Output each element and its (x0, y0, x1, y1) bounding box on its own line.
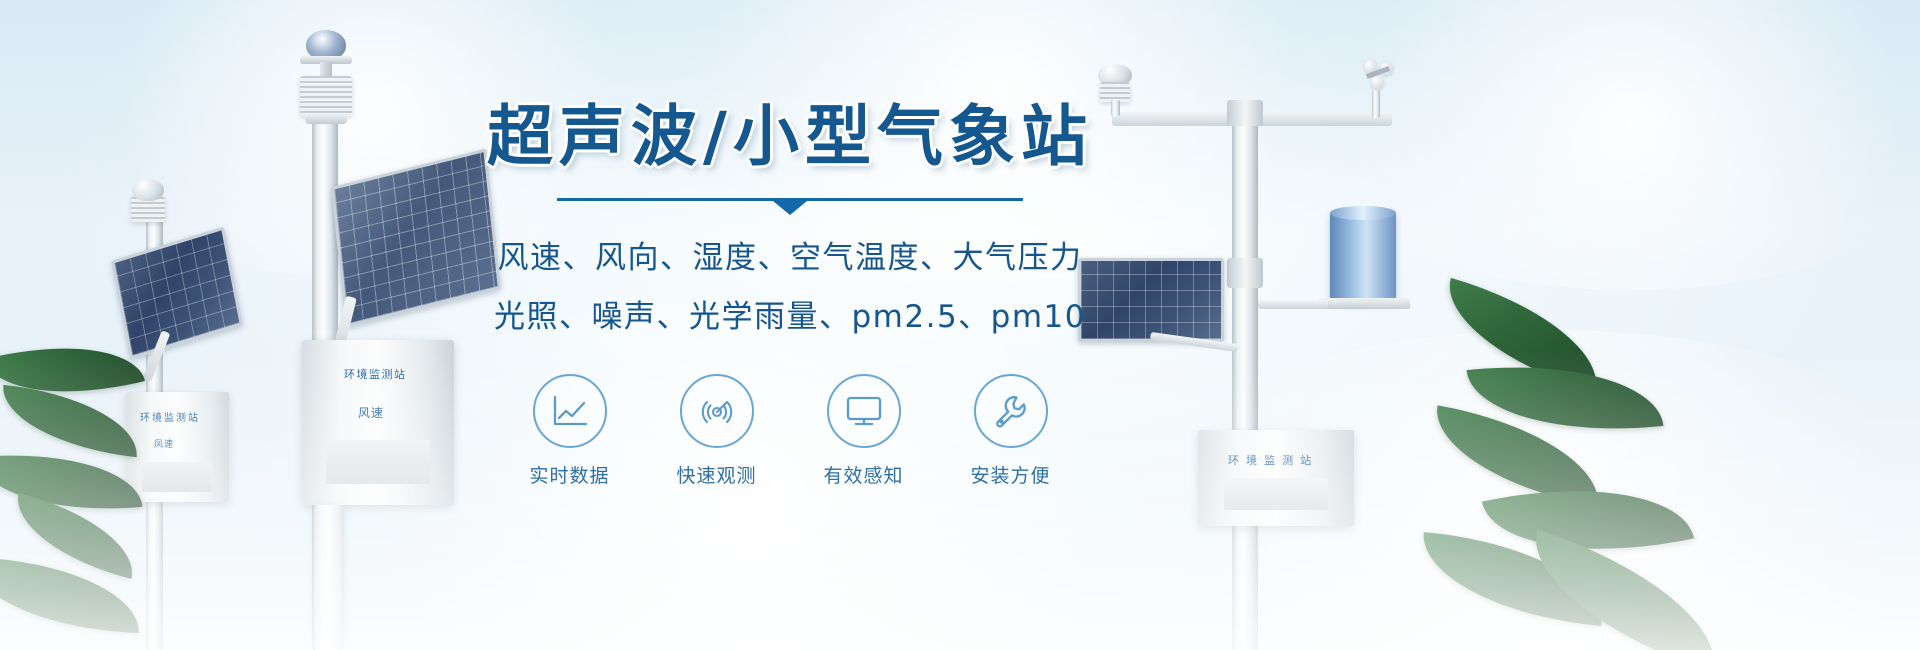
banner-content: 超声波/小型气象站 风速、风向、湿度、空气温度、大气压力 光照、噪声、光学雨量、… (440, 100, 1140, 488)
feature-item-realtime-data[interactable]: 实时数据 (521, 374, 619, 488)
feature-label: 有效感知 (815, 461, 913, 488)
line-chart-icon (551, 394, 589, 428)
gauge-shelf (1318, 298, 1410, 309)
feature-icon-circle (680, 374, 754, 448)
feature-label: 安装方便 (962, 461, 1060, 488)
wrench-icon (992, 392, 1030, 430)
divider (557, 196, 1023, 210)
radiation-shield (300, 76, 352, 116)
feature-label: 快速观测 (668, 461, 766, 488)
feature-icon-circle (974, 374, 1048, 448)
solar-panel (111, 226, 243, 359)
radar-signal-icon (698, 392, 736, 430)
mast-collar (1227, 100, 1263, 126)
monitor-display-icon (845, 394, 883, 428)
subtitle-line-1: 风速、风向、湿度、空气温度、大气压力 (440, 232, 1140, 277)
radiation-shield (1100, 82, 1130, 102)
sensor-stem (1372, 90, 1380, 118)
sensor-dome (132, 179, 164, 201)
feature-list: 实时数据 快速观测 (440, 374, 1140, 488)
feature-icon-circle (533, 374, 607, 448)
shelf-support-arm (1258, 300, 1328, 309)
feature-item-effective-sensing[interactable]: 有效感知 (815, 374, 913, 488)
rain-gauge-rim (1330, 206, 1396, 220)
feature-item-easy-install[interactable]: 安装方便 (962, 374, 1060, 488)
sensor-neck (320, 62, 332, 76)
caret-down-icon (773, 201, 807, 215)
weather-station-banner: 环境监测站 风速 环境监测站 风速 (0, 0, 1920, 650)
shield-base (305, 114, 347, 124)
mast-collar (1227, 258, 1263, 288)
feature-icon-circle (827, 374, 901, 448)
subtitle-line-2: 光照、噪声、光学雨量、pm2.5、pm10 (440, 291, 1140, 336)
page-title: 超声波/小型气象站 (440, 100, 1140, 174)
anemometer-cup (1371, 76, 1384, 89)
feature-item-fast-observation[interactable]: 快速观测 (668, 374, 766, 488)
feature-label: 实时数据 (521, 461, 619, 488)
rain-gauge (1330, 210, 1396, 302)
